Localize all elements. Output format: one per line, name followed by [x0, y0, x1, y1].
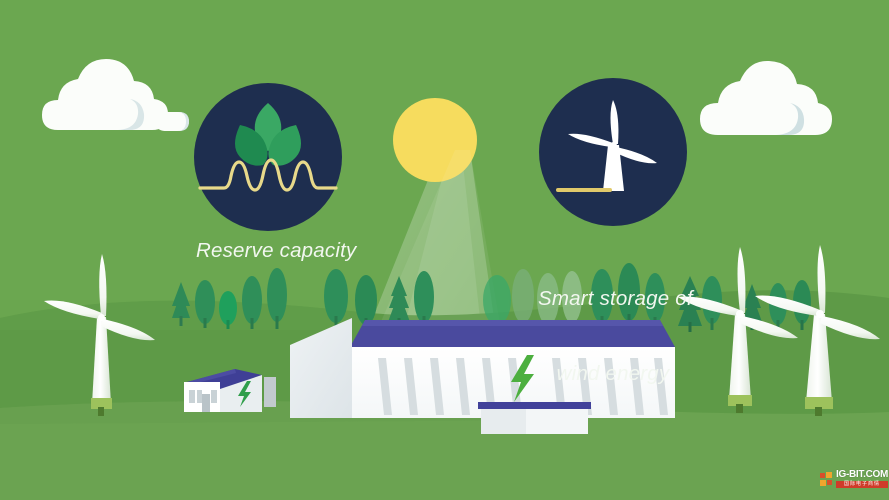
turbine-foot	[736, 404, 743, 413]
caption-smart-storage: Smart storage of wind energy	[538, 236, 688, 436]
caption-smart-storage-line2: wind energy	[538, 361, 688, 386]
wind-storage-badge[interactable]	[539, 78, 687, 226]
cloud-left-small	[155, 112, 189, 131]
ig-bit-watermark: IG-BIT.COM 国际电子商情	[820, 470, 888, 488]
watermark-title: IG-BIT.COM	[836, 470, 888, 480]
house-door	[202, 394, 210, 412]
turbine-icon-hub	[610, 142, 617, 149]
warehouse-door	[264, 377, 276, 407]
turbine-hub	[736, 310, 744, 318]
illustration-canvas: Reserve capacity Smart storage of wind e…	[0, 0, 889, 500]
turbine-hub	[816, 310, 824, 318]
scene-svg	[0, 0, 889, 500]
warehouse-annex-wall-shade	[481, 407, 526, 434]
turbine-foot	[815, 407, 822, 416]
turbine-foot	[98, 407, 104, 416]
caption-reserve-capacity: Reserve capacity	[196, 238, 356, 263]
watermark-text: IG-BIT.COM 国际电子商情	[836, 470, 888, 488]
turbine-hub	[98, 314, 105, 321]
watermark-subtitle: 国际电子商情	[836, 481, 888, 488]
ground-line-icon	[556, 188, 612, 192]
watermark-logo-icon	[820, 472, 833, 487]
caption-smart-storage-line1: Smart storage of	[538, 286, 688, 311]
reserve-capacity-badge[interactable]	[194, 83, 342, 231]
